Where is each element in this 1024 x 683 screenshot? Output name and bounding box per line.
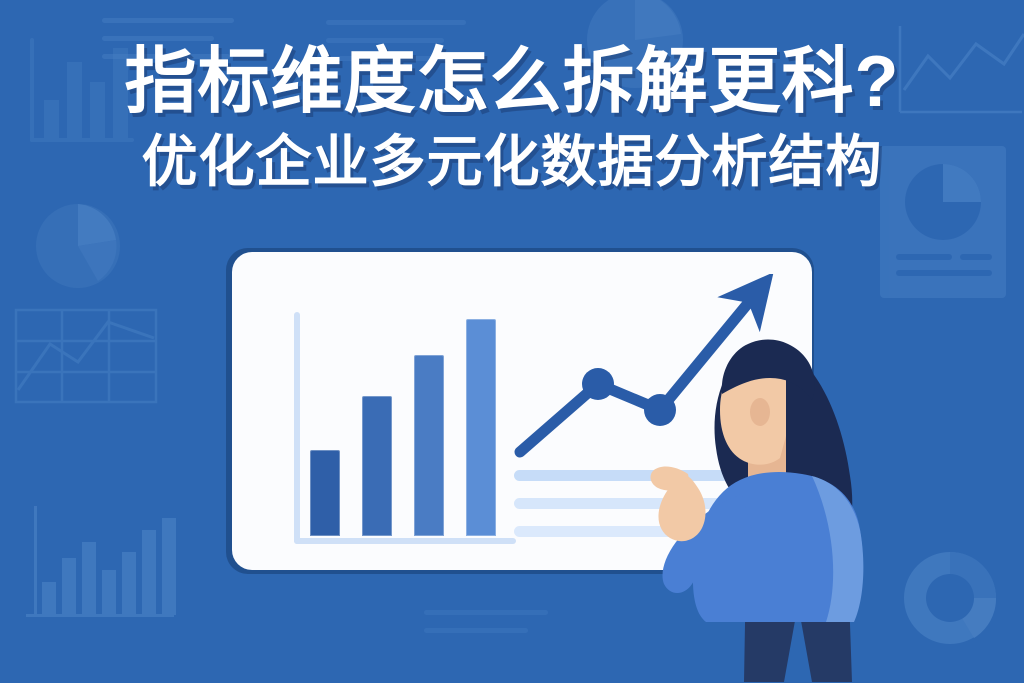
poster-canvas: 指标维度怎么拆解更科? 优化企业多元化数据分析结构 [0,0,1024,683]
page-subtitle: 优化企业多元化数据分析结构 [0,134,1024,190]
bar-3 [414,355,444,536]
bar-1 [310,450,340,536]
x-axis [294,538,516,544]
ear [750,398,770,426]
text-lines-watermark-bottom-center [424,606,564,658]
grid-chart-watermark-left [4,300,174,420]
bar-4 [466,319,496,536]
y-axis [294,312,300,544]
bar-2 [362,396,392,536]
bar-chart [260,280,500,542]
pointing-finger [651,467,690,491]
pie-chart-watermark-left [28,196,128,296]
person-illustration [636,316,936,683]
headline-block: 指标维度怎么拆解更科? 优化企业多元化数据分析结构 [0,46,1024,190]
page-title: 指标维度怎么拆解更科? [0,46,1024,118]
bar-chart-watermark-bottom-left [16,492,196,652]
line-node-1 [582,368,614,400]
